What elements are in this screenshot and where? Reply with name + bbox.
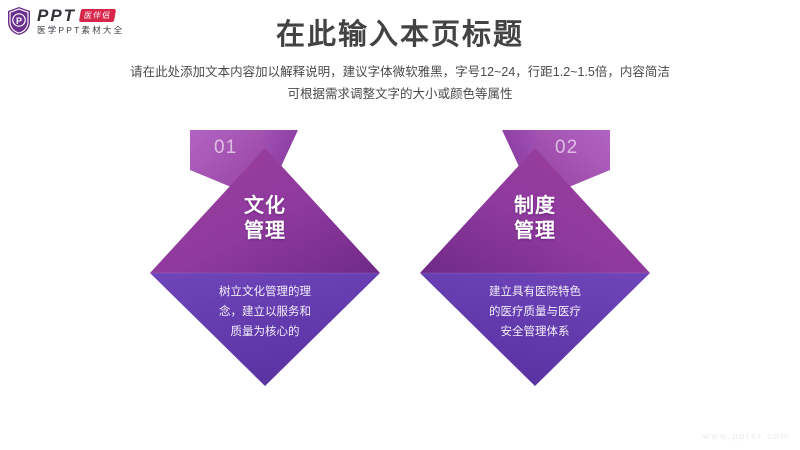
diagram-item-1-heading: 文化 管理 bbox=[150, 194, 380, 244]
subtitle-line-1: 请在此处添加文本内容加以解释说明，建议字体微软雅黑，字号12~24，行距1.2~… bbox=[0, 61, 800, 83]
diagram-item-2[interactable]: 02 制度 管理 建立具有医院特色 的医疗质量与医疗 安全管理体系 bbox=[420, 126, 650, 391]
diagram-item-2-heading-line-1: 制度 bbox=[420, 194, 650, 219]
diagram-item-2-desc-line-2: 的医疗质量与医疗 bbox=[420, 302, 650, 322]
diagram-item-1-desc-line-2: 念，建立以服务和 bbox=[150, 302, 380, 322]
diagram-item-2-heading-line-2: 管理 bbox=[420, 219, 650, 244]
diamond-shape-2 bbox=[420, 126, 650, 391]
diagram-item-1-heading-line-2: 管理 bbox=[150, 219, 380, 244]
footer-watermark: www.ppter.com bbox=[703, 430, 790, 442]
diagram-item-2-desc-line-1: 建立具有医院特色 bbox=[420, 282, 650, 302]
diagram-item-1-desc-line-3: 质量为核心的 bbox=[150, 322, 380, 342]
diagram-item-1-number: 01 bbox=[214, 137, 237, 159]
diagram-item-1-heading-line-1: 文化 bbox=[150, 194, 380, 219]
subtitle-line-2: 可根据需求调整文字的大小或颜色等属性 bbox=[0, 83, 800, 105]
diagram-item-1-description: 树立文化管理的理 念，建立以服务和 质量为核心的 bbox=[150, 282, 380, 342]
page-title: 在此输入本页标题 bbox=[0, 18, 800, 52]
diagram-item-2-heading: 制度 管理 bbox=[420, 194, 650, 244]
diagram-item-2-description: 建立具有医院特色 的医疗质量与医疗 安全管理体系 bbox=[420, 282, 650, 342]
diagram-item-2-number: 02 bbox=[555, 137, 578, 159]
diagram-container: 01 文化 管理 树立文化管理的理 念，建立以服务和 质量为核心的 bbox=[0, 126, 800, 396]
diagram-item-1[interactable]: 01 文化 管理 树立文化管理的理 念，建立以服务和 质量为核心的 bbox=[150, 126, 380, 391]
diagram-item-2-desc-line-3: 安全管理体系 bbox=[420, 322, 650, 342]
diamond-shape-1 bbox=[150, 126, 380, 391]
subtitle-block: 请在此处添加文本内容加以解释说明，建议字体微软雅黑，字号12~24，行距1.2~… bbox=[0, 61, 800, 105]
diagram-item-1-desc-line-1: 树立文化管理的理 bbox=[150, 282, 380, 302]
